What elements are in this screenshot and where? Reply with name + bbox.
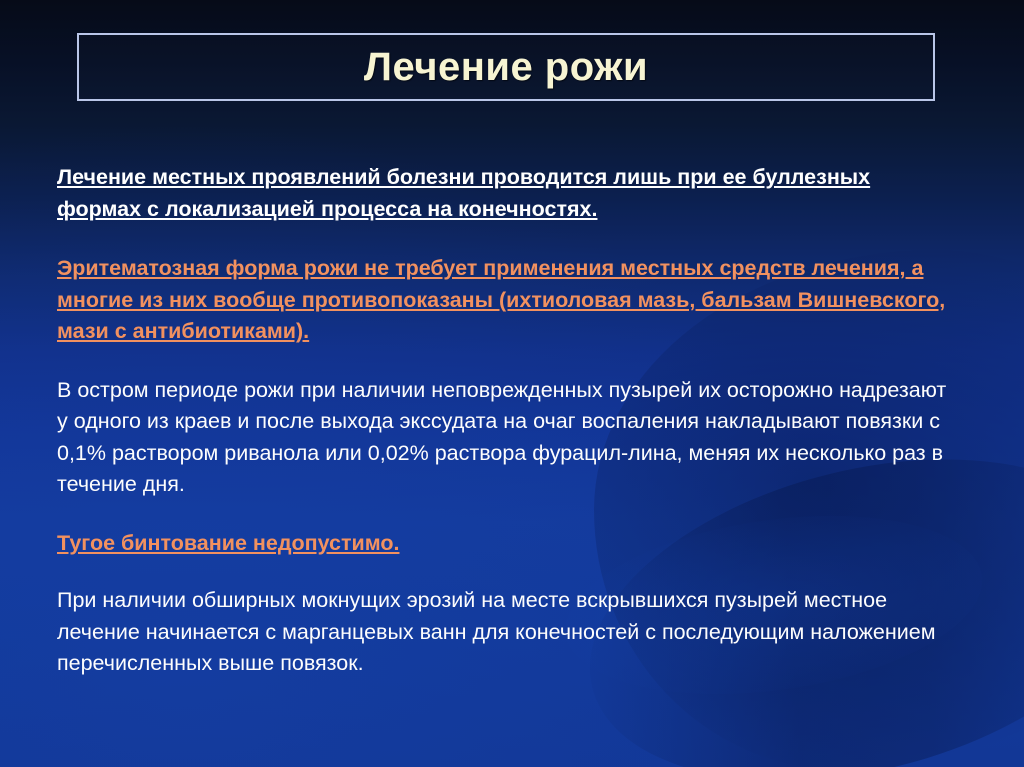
paragraph-spacer [57,501,957,528]
paragraph-acute-period: В остром периоде рожи при наличии неповр… [57,375,957,501]
slide-title: Лечение рожи [364,47,648,87]
paragraph-extensive-erosions: При наличии обширных мокнущих эрозий на … [57,585,957,680]
paragraph-tight-bandaging: Тугое бинтование недопустимо. [57,528,957,560]
slide-title-frame: Лечение рожи [77,33,935,101]
paragraph-erythematous-form: Эритематозная форма рожи не требует прим… [57,253,957,348]
paragraph-spacer [57,559,957,585]
paragraph-spacer [57,348,957,375]
paragraph-local-manifestations: Лечение местных проявлений болезни прово… [57,162,957,225]
paragraph-spacer [57,225,957,253]
slide-body: Лечение местных проявлений болезни прово… [57,162,957,680]
presentation-slide: Лечение рожи Лечение местных проявлений … [0,0,1024,767]
